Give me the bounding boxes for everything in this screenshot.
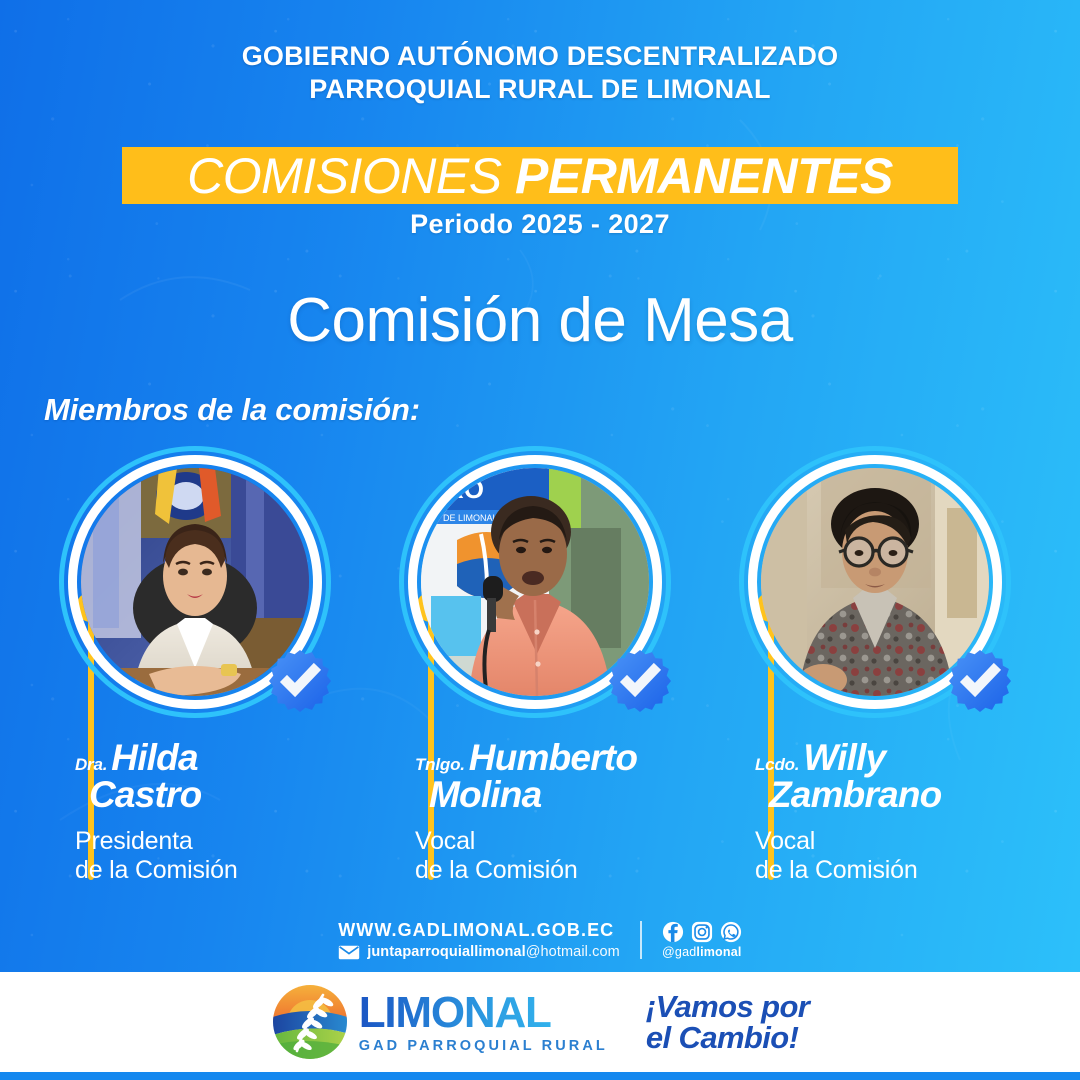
social-handle-bold: limonal	[696, 945, 741, 959]
member-card: Lcdo.Willy Zambrano Vocal de la Comisión	[700, 440, 1040, 890]
period-label: Periodo 2025 - 2027	[0, 209, 1080, 240]
limonal-logo: LIMONAL GAD PARROQUIAL RURAL	[271, 983, 608, 1061]
banner-title-regular: COMISIONES	[187, 148, 515, 204]
svg-text:RO: RO	[445, 474, 484, 504]
member-prefix: Tnlgo.	[415, 755, 465, 774]
email-user: juntaparroquiallimonal	[367, 944, 526, 960]
social-icons	[662, 921, 742, 943]
avatar	[739, 446, 1011, 718]
members-list: Dra.Hilda Castro Presidenta de la Comisi…	[0, 440, 1080, 890]
member-card: RO DE LIMONAL	[360, 440, 700, 890]
member-role-line-1: Vocal	[755, 827, 1040, 856]
instagram-icon[interactable]	[691, 921, 713, 943]
svg-text:DE LIMONAL: DE LIMONAL	[443, 513, 498, 523]
email-row[interactable]: juntaparroquiallimonal@hotmail.com	[338, 944, 620, 960]
member-last-name: Zambrano	[769, 776, 1040, 814]
banner-title-bold: PERMANENTES	[515, 148, 893, 204]
member-last-name: Castro	[89, 776, 360, 814]
whatsapp-icon[interactable]	[720, 921, 742, 943]
member-name-block: Dra.Hilda Castro Presidenta de la Comisi…	[75, 740, 360, 885]
commissions-banner: COMISIONES PERMANENTES	[122, 147, 958, 204]
envelope-icon	[338, 945, 360, 960]
slogan: ¡Vamos por el Cambio!	[646, 991, 809, 1053]
header-line-1: GOBIERNO AUTÓNOMO DESCENTRALIZADO	[0, 40, 1080, 73]
member-role: Vocal de la Comisión	[755, 827, 1040, 885]
social-handle: @gadlimonal	[662, 945, 742, 959]
member-role-line-2: de la Comisión	[75, 856, 360, 885]
member-name-line-1: Tnlgo.Humberto	[415, 740, 700, 776]
member-first-name: Humberto	[469, 737, 637, 778]
limonal-emblem-icon	[271, 983, 349, 1061]
contact-left: WWW.GADLIMONAL.GOB.EC juntaparroquiallim…	[338, 920, 620, 960]
contact-strip: WWW.GADLIMONAL.GOB.EC juntaparroquiallim…	[0, 916, 1080, 964]
avatar	[59, 446, 331, 718]
member-role: Vocal de la Comisión	[415, 827, 700, 885]
member-role-line-1: Presidenta	[75, 827, 360, 856]
member-role-line-1: Vocal	[415, 827, 700, 856]
member-prefix: Dra.	[75, 755, 107, 774]
verified-badge-icon	[267, 648, 333, 714]
facebook-icon[interactable]	[662, 921, 684, 943]
member-name-block: Tnlgo.Humberto Molina Vocal de la Comisi…	[415, 740, 700, 885]
footer: LIMONAL GAD PARROQUIAL RURAL ¡Vamos por …	[0, 972, 1080, 1072]
bottom-blue-strip	[0, 1072, 1080, 1080]
email-text: juntaparroquiallimonal@hotmail.com	[367, 944, 620, 960]
slogan-line-2: el Cambio!	[646, 1022, 809, 1053]
verified-badge-icon	[947, 648, 1013, 714]
header-line-2: PARROQUIAL RURAL DE LIMONAL	[0, 73, 1080, 106]
member-name-line-1: Dra.Hilda	[75, 740, 360, 776]
member-card: Dra.Hilda Castro Presidenta de la Comisi…	[20, 440, 360, 890]
contact-divider	[640, 921, 642, 959]
member-role-line-2: de la Comisión	[755, 856, 1040, 885]
member-first-name: Willy	[803, 737, 885, 778]
member-name-line-1: Lcdo.Willy	[755, 740, 1040, 776]
page-title: Comisión de Mesa	[0, 285, 1080, 356]
member-first-name: Hilda	[111, 737, 197, 778]
website-link[interactable]: WWW.GADLIMONAL.GOB.EC	[338, 920, 614, 941]
member-role-line-2: de la Comisión	[415, 856, 700, 885]
banner-title: COMISIONES PERMANENTES	[187, 151, 893, 201]
member-role: Presidenta de la Comisión	[75, 827, 360, 885]
email-domain: @hotmail.com	[526, 944, 620, 960]
verified-badge-icon	[607, 648, 673, 714]
poster: GOBIERNO AUTÓNOMO DESCENTRALIZADO PARROQ…	[0, 0, 1080, 1080]
member-prefix: Lcdo.	[755, 755, 799, 774]
member-name-block: Lcdo.Willy Zambrano Vocal de la Comisión	[755, 740, 1040, 885]
members-label: Miembros de la comisión:	[44, 392, 420, 428]
social-handle-prefix: @gad	[662, 945, 696, 959]
member-last-name: Molina	[429, 776, 700, 814]
slogan-line-1: ¡Vamos por	[646, 991, 809, 1022]
institution-header: GOBIERNO AUTÓNOMO DESCENTRALIZADO PARROQ…	[0, 40, 1080, 107]
limonal-logo-subtitle: GAD PARROQUIAL RURAL	[359, 1039, 608, 1054]
limonal-logo-text: LIMONAL GAD PARROQUIAL RURAL	[359, 991, 608, 1054]
social-section: @gadlimonal	[662, 921, 742, 959]
avatar: RO DE LIMONAL	[399, 446, 671, 718]
limonal-logo-name: LIMONAL	[359, 991, 608, 1035]
